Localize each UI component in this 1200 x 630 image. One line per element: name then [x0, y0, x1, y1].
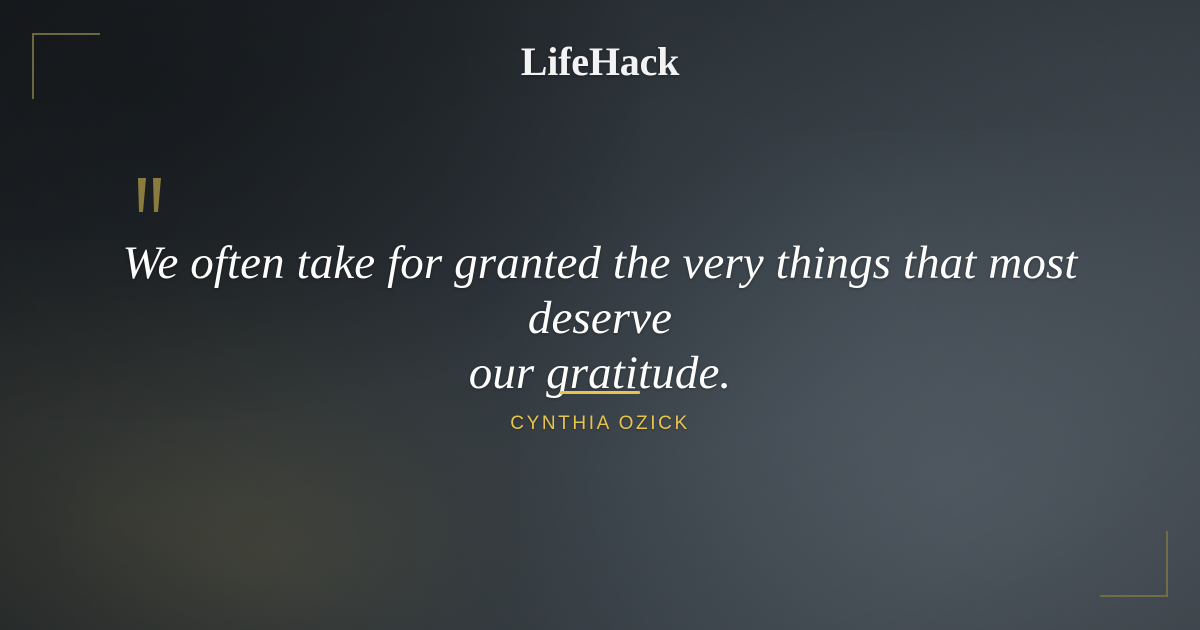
quote-text-line-1: We often take for granted the very thing… [60, 236, 1140, 346]
quote-mark-icon [132, 176, 176, 216]
quote-author: CYNTHIA OZICK [0, 413, 1200, 435]
author-divider [560, 391, 640, 394]
quote-block: We often take for granted the very thing… [60, 236, 1140, 401]
author-divider-wrap [0, 381, 1200, 399]
brand-logo: LifeHack [0, 38, 1200, 85]
quote-card: LifeHack We often take for granted the v… [0, 0, 1200, 630]
